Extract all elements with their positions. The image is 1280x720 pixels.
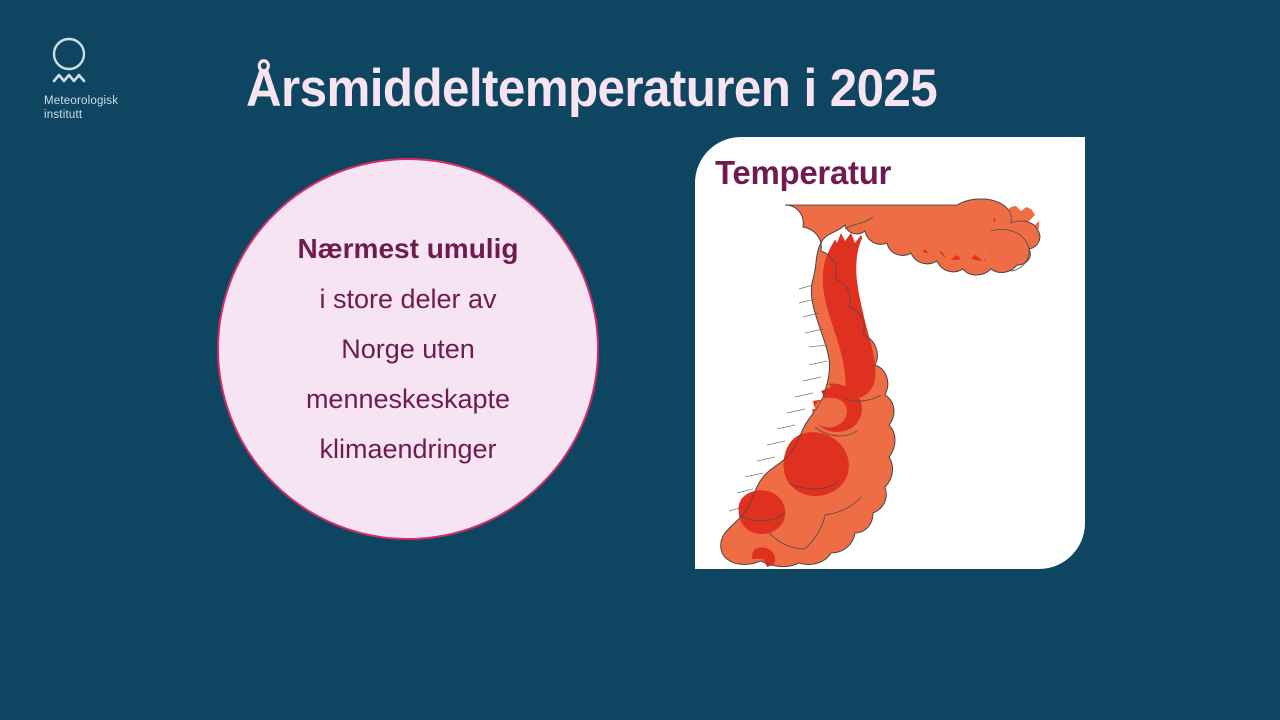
callout-circle: Nærmest umulig i store deler av Norge ut…: [217, 158, 599, 540]
temperature-map-card: Temperatur: [695, 137, 1085, 569]
card-title: Temperatur: [715, 154, 891, 192]
circle-wave-icon: [44, 36, 100, 92]
callout-line-3: menneskeskapte: [306, 374, 510, 424]
callout-line-4: klimaendringer: [319, 424, 496, 474]
page-title: Årsmiddeltemperaturen i 2025: [246, 58, 937, 120]
callout-line-0: Nærmest umulig: [298, 224, 519, 274]
callout-line-2: Norge uten: [341, 324, 475, 374]
region-telemark-highland: [738, 490, 785, 534]
norway-map: [695, 189, 1085, 569]
met-institute-logo: Meteorologisk institutt: [40, 36, 190, 131]
logo-wordmark: Meteorologisk institutt: [44, 94, 118, 122]
slide-canvas: Meteorologisk institutt Årsmiddeltempera…: [0, 0, 1280, 720]
callout-line-1: i store deler av: [319, 274, 496, 324]
